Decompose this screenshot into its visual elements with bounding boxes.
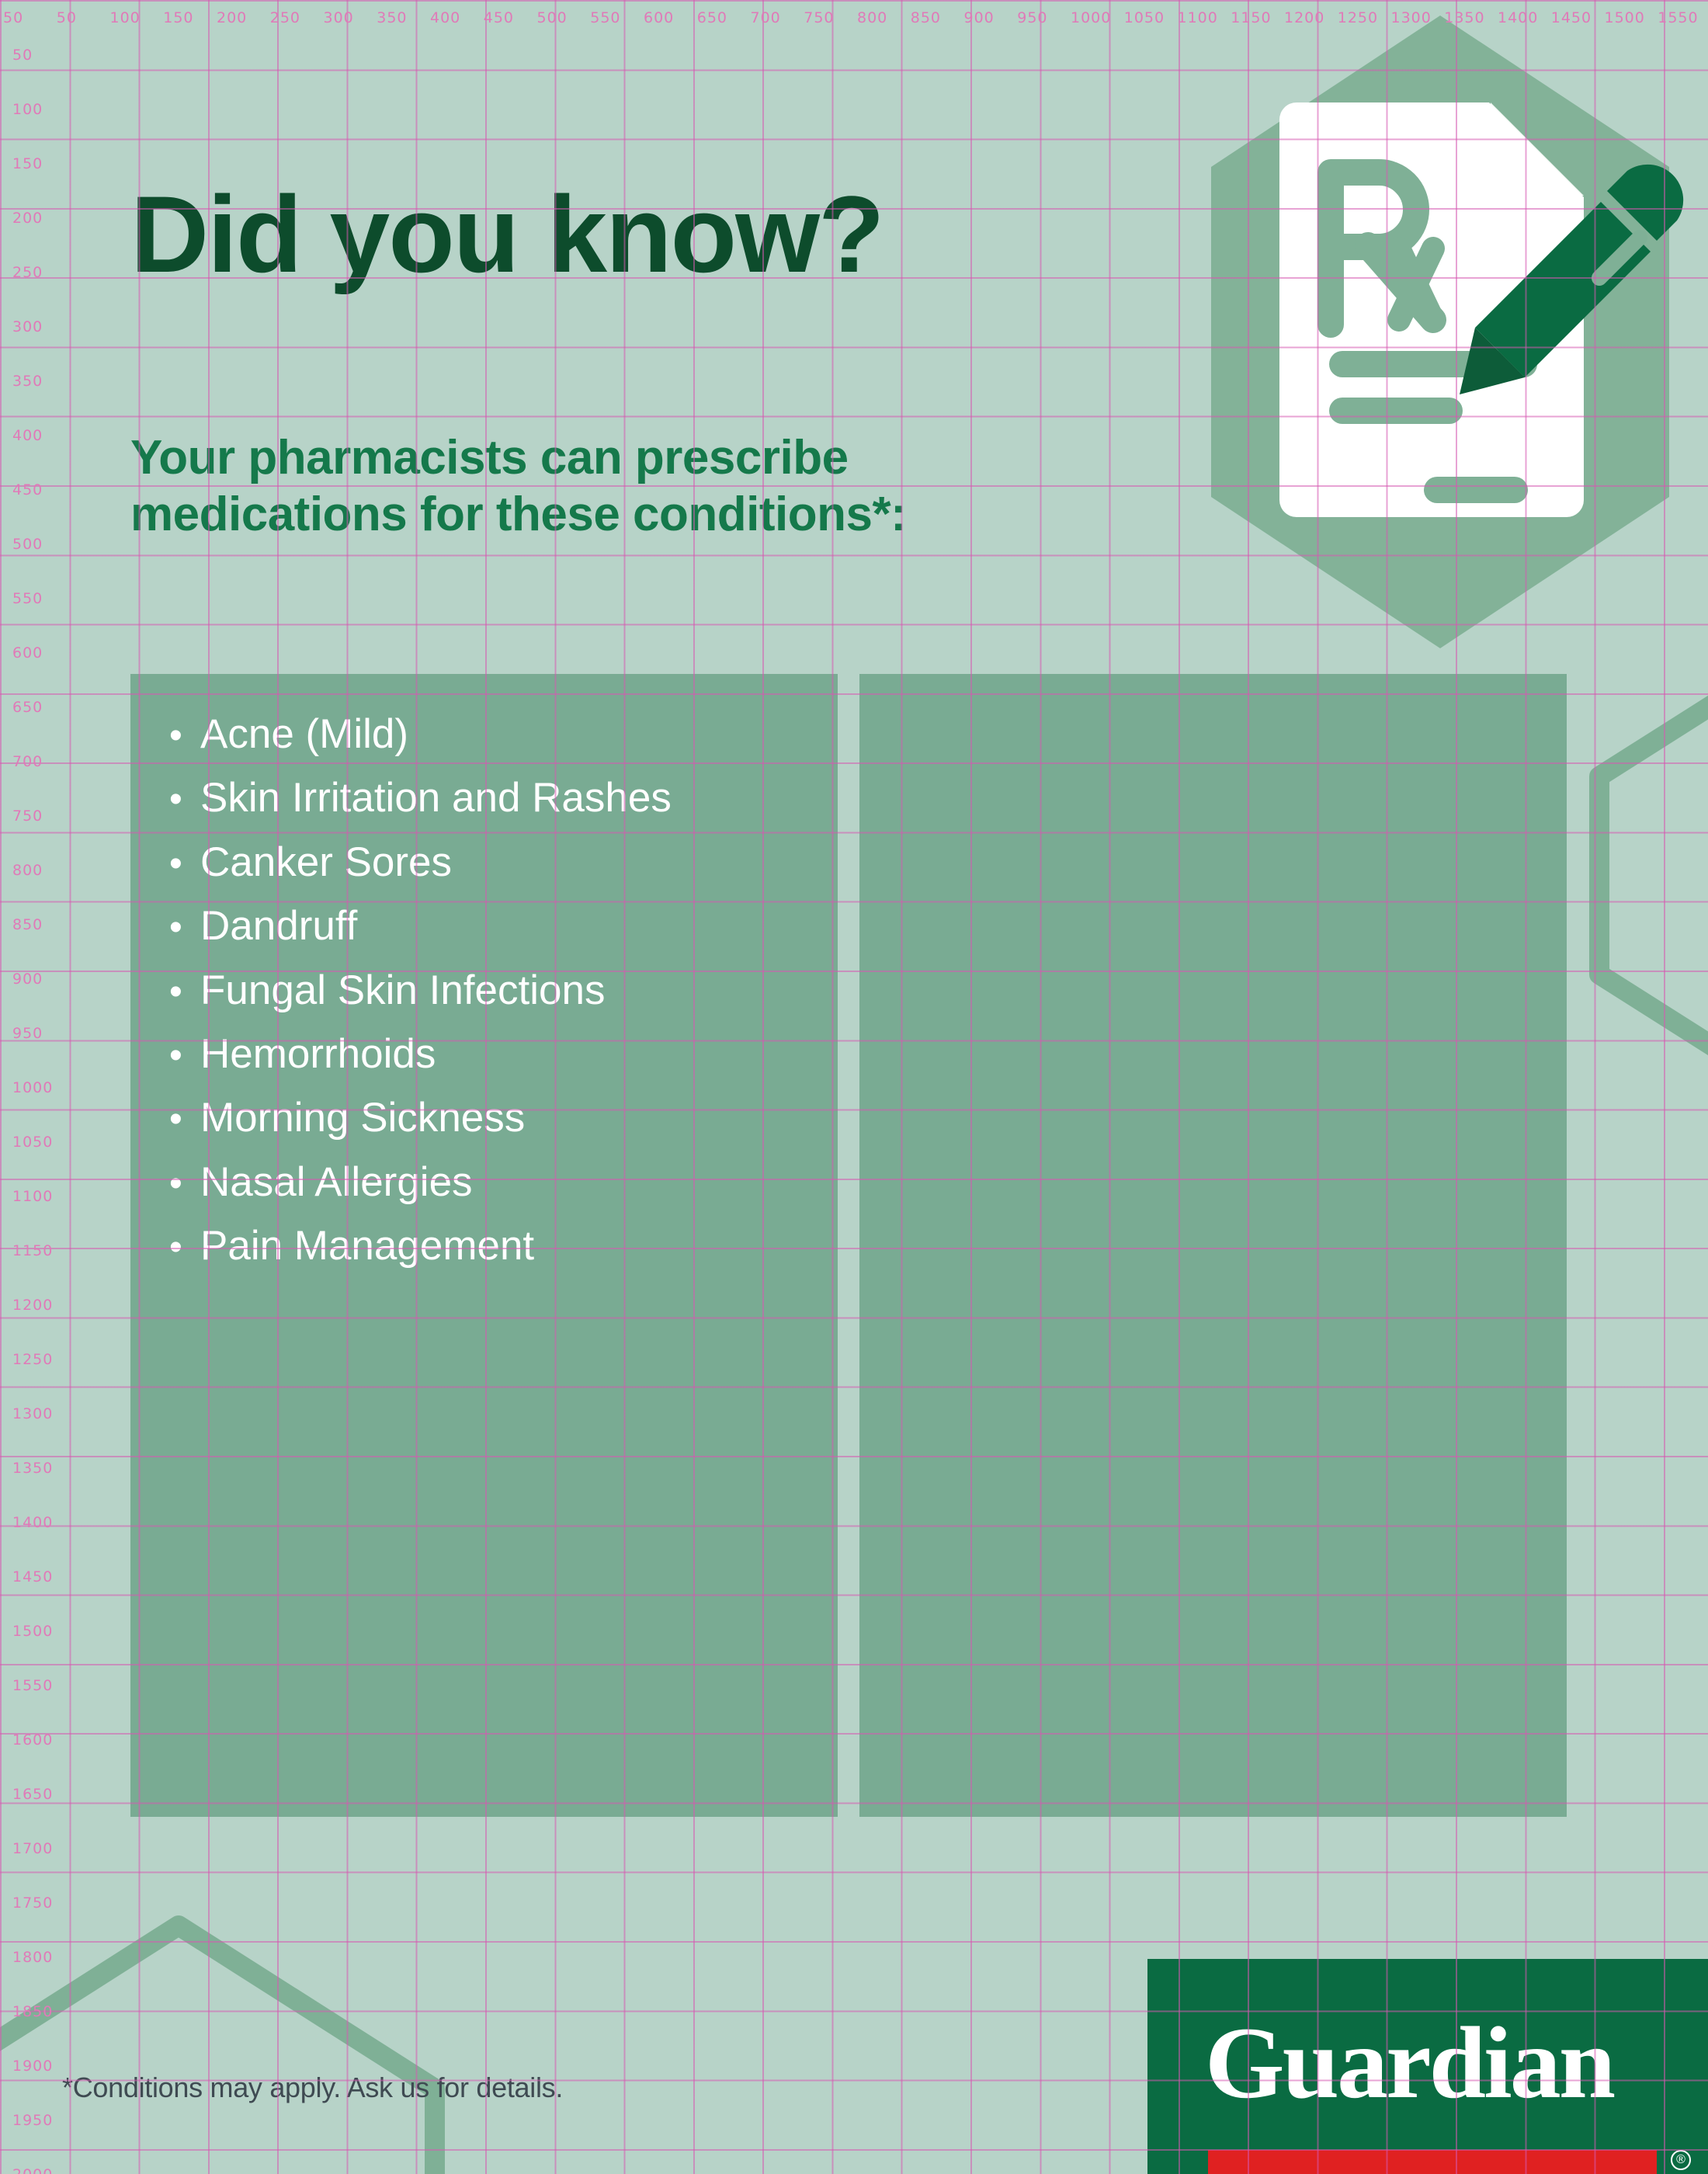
list-item: •Fungal Skin Infections: [169, 959, 672, 1023]
ruler-label-y: 1350: [12, 1461, 53, 1476]
ruler-label-y: 200: [12, 211, 43, 226]
poster-canvas: Did you know? Your pharmacists can presc…: [0, 0, 1708, 2174]
list-item: •Acne (Mild): [169, 703, 672, 766]
bullet-icon: •: [169, 1219, 200, 1277]
condition-label: Fungal Skin Infections: [200, 959, 605, 1023]
ruler-label-y: 900: [12, 972, 43, 987]
subheading-line-2: medications for these conditions*:: [130, 486, 1140, 543]
bullet-icon: •: [169, 899, 200, 957]
ruler-label-y: 550: [12, 592, 43, 606]
bullet-icon: •: [169, 1027, 200, 1085]
guardian-logo: Guardian ®: [1147, 1959, 1708, 2174]
ruler-label-x: 650: [697, 11, 727, 26]
hexagon-outline-bottom-left: [0, 1926, 435, 2174]
text-line-2: [1329, 398, 1463, 424]
ruler-label-x: 450: [484, 11, 514, 26]
ruler-label-y: 300: [12, 320, 43, 335]
registered-trademark-icon: ®: [1671, 2150, 1691, 2170]
ruler-label-y: 450: [12, 483, 43, 498]
ruler-label-y: 1400: [12, 1516, 53, 1530]
condition-label: Hemorrhoids: [200, 1023, 436, 1086]
list-item: •Dandruff: [169, 894, 672, 958]
list-item: •Canker Sores: [169, 831, 672, 894]
ruler-label-y: 1200: [12, 1298, 53, 1313]
list-item: •Pain Management: [169, 1214, 672, 1278]
ruler-label-x: 900: [964, 11, 995, 26]
hexagon-outline-right: [1599, 675, 1708, 1075]
condition-label: Morning Sickness: [200, 1086, 525, 1150]
ruler-label-y: 1900: [12, 2059, 53, 2074]
prescription-document-icon: [1165, 16, 1708, 668]
ruler-label-y: 750: [12, 809, 43, 824]
ruler-label-y: 1950: [12, 2113, 53, 2128]
ruler-label-x: 250: [270, 11, 300, 26]
ruler-label-y: 1150: [12, 1244, 53, 1259]
ruler-label-x: 550: [590, 11, 620, 26]
ruler-label-y: 1750: [12, 1896, 53, 1911]
ruler-label-x: 300: [324, 11, 354, 26]
ruler-label-x: 600: [644, 11, 674, 26]
ruler-label-y: 2000: [12, 2168, 53, 2174]
ruler-label-x: 500: [537, 11, 568, 26]
condition-label: Nasal Allergies: [200, 1151, 473, 1214]
list-item: •Nasal Allergies: [169, 1151, 672, 1214]
ruler-label-y: 100: [12, 102, 43, 117]
ruler-label-y: 1100: [12, 1189, 53, 1204]
footnote-disclaimer: *Conditions may apply. Ask us for detail…: [62, 2072, 563, 2104]
bullet-icon: •: [169, 707, 200, 766]
condition-label: Acne (Mild): [200, 703, 408, 766]
ruler-label-y: 850: [12, 918, 43, 932]
subheading-line-1: Your pharmacists can prescribe: [130, 429, 1140, 486]
ruler-label-y: 800: [12, 863, 43, 878]
brand-underline-bar: [1208, 2150, 1657, 2174]
ruler-label-y: 1050: [12, 1135, 53, 1150]
panel-divider-gap: [838, 674, 859, 1817]
ruler-label-x: 750: [804, 11, 834, 26]
ruler-label-origin: 50: [3, 11, 23, 26]
ruler-label-y: 1450: [12, 1570, 53, 1585]
ruler-label-y: 650: [12, 700, 43, 715]
ruler-label-y: 150: [12, 157, 43, 172]
ruler-label-y: 1800: [12, 1950, 53, 1965]
conditions-panel-right: [859, 674, 1567, 1817]
condition-label: Pain Management: [200, 1214, 534, 1278]
ruler-label-y: 1600: [12, 1733, 53, 1748]
conditions-list: •Acne (Mild)•Skin Irritation and Rashes•…: [169, 703, 672, 1279]
ruler-label-x: 200: [217, 11, 247, 26]
subheading: Your pharmacists can prescribe medicatio…: [130, 429, 1140, 543]
list-item: •Skin Irritation and Rashes: [169, 766, 672, 830]
ruler-label-x: 50: [57, 11, 77, 26]
ruler-label-x: 150: [163, 11, 193, 26]
bullet-icon: •: [169, 771, 200, 829]
ruler-label-y: 1250: [12, 1353, 53, 1367]
ruler-label-x: 350: [377, 11, 407, 26]
ruler-label-y: 1850: [12, 2005, 53, 2019]
condition-label: Canker Sores: [200, 831, 452, 894]
ruler-label-x: 950: [1017, 11, 1047, 26]
page-title: Did you know?: [130, 180, 884, 289]
condition-label: Dandruff: [200, 894, 357, 958]
ruler-label-x: 400: [430, 11, 460, 26]
ruler-label-y: 950: [12, 1026, 43, 1041]
list-item: •Hemorrhoids: [169, 1023, 672, 1086]
ruler-label-y: 250: [12, 266, 43, 280]
bullet-icon: •: [169, 1155, 200, 1214]
ruler-label-y: 600: [12, 646, 43, 661]
ruler-label-x: 1050: [1124, 11, 1165, 26]
list-item: •Morning Sickness: [169, 1086, 672, 1150]
ruler-label-x: 100: [110, 11, 141, 26]
ruler-label-y: 1000: [12, 1081, 53, 1096]
bullet-icon: •: [169, 1091, 200, 1149]
ruler-label-x: 700: [751, 11, 781, 26]
ruler-label-x: 1000: [1071, 11, 1111, 26]
ruler-label-y: 400: [12, 429, 43, 443]
ruler-label-x: 850: [911, 11, 941, 26]
ruler-label-y: 1500: [12, 1624, 53, 1639]
bullet-icon: •: [169, 835, 200, 894]
ruler-label-y: 500: [12, 537, 43, 552]
ruler-label-y: 1650: [12, 1787, 53, 1802]
ruler-label-y: 700: [12, 755, 43, 769]
ruler-label-y: 1550: [12, 1679, 53, 1693]
condition-label: Skin Irritation and Rashes: [200, 766, 672, 830]
ruler-label-y: 350: [12, 374, 43, 389]
ruler-label-x: 800: [857, 11, 887, 26]
ruler-label-y: 50: [12, 48, 33, 63]
brand-wordmark: Guardian: [1205, 2012, 1613, 2114]
signature-line: [1424, 477, 1528, 503]
bullet-icon: •: [169, 964, 200, 1022]
ruler-label-y: 1300: [12, 1407, 53, 1422]
ruler-label-y: 1700: [12, 1842, 53, 1856]
